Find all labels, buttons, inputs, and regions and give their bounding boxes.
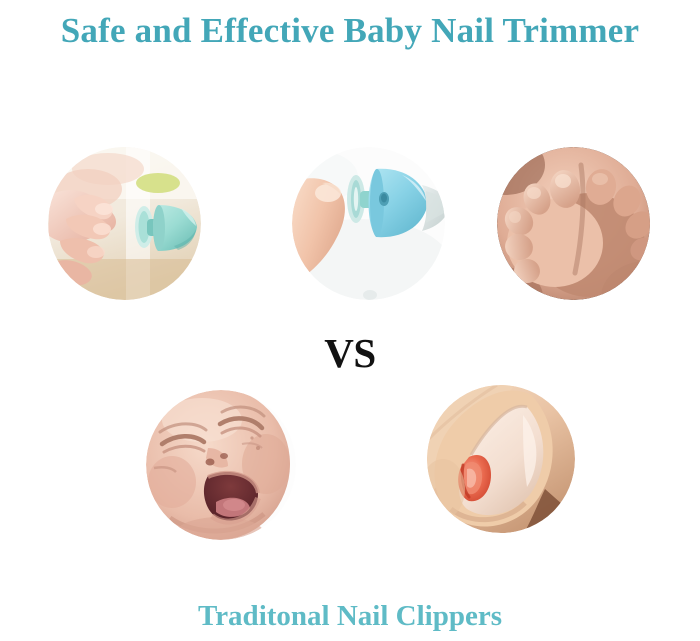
photo-injured-nail [427, 385, 575, 533]
infographic-canvas: Safe and Effective Baby Nail Trimmer [0, 0, 700, 641]
photo-crying-baby [146, 390, 296, 540]
footer-caption: Traditonal Nail Clippers [0, 598, 700, 634]
vs-divider-label: VS [0, 331, 700, 375]
photo-baby-toes [497, 147, 650, 300]
photo-trimmer-closeup [292, 147, 445, 300]
photo-trimmer-on-hand [48, 147, 201, 300]
page-title: Safe and Effective Baby Nail Trimmer [0, 10, 700, 52]
